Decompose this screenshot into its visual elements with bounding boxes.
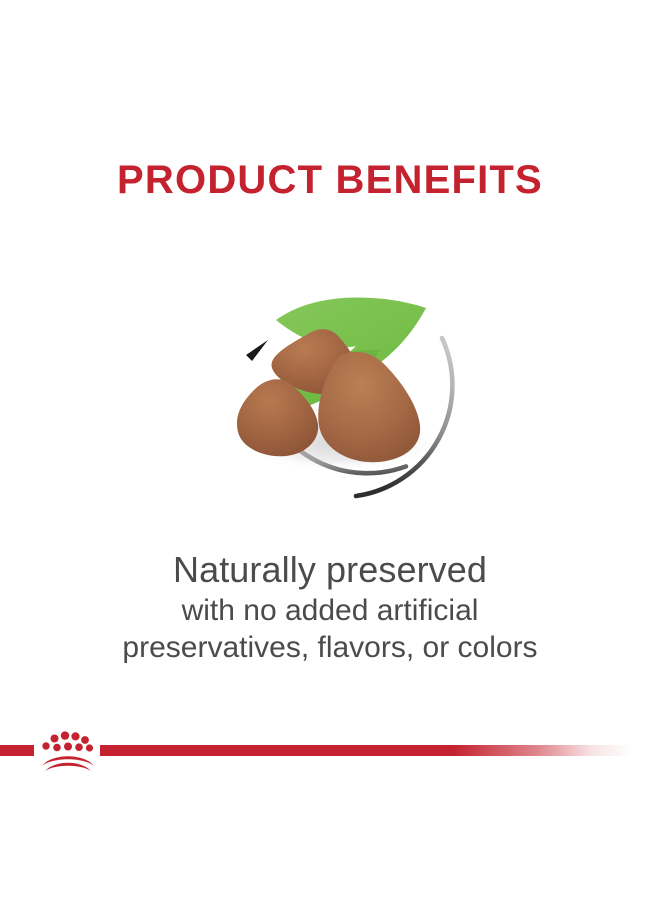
benefit-icon: [180, 230, 480, 530]
product-benefits-panel: PRODUCT BENEFITS: [0, 0, 660, 900]
footer-bar-right-segment: [100, 745, 660, 756]
footer-bar-left-segment: [0, 745, 34, 756]
benefit-subline-1: with no added artificial: [0, 592, 660, 629]
benefit-subline-2: preservatives, flavors, or colors: [0, 629, 660, 666]
benefit-headline: Naturally preserved: [0, 548, 660, 592]
page-title: PRODUCT BENEFITS: [0, 158, 660, 202]
royal-canin-crown-logo: [38, 726, 98, 774]
benefit-text-block: Naturally preserved with no added artifi…: [0, 548, 660, 666]
footer-rule: [0, 726, 660, 776]
